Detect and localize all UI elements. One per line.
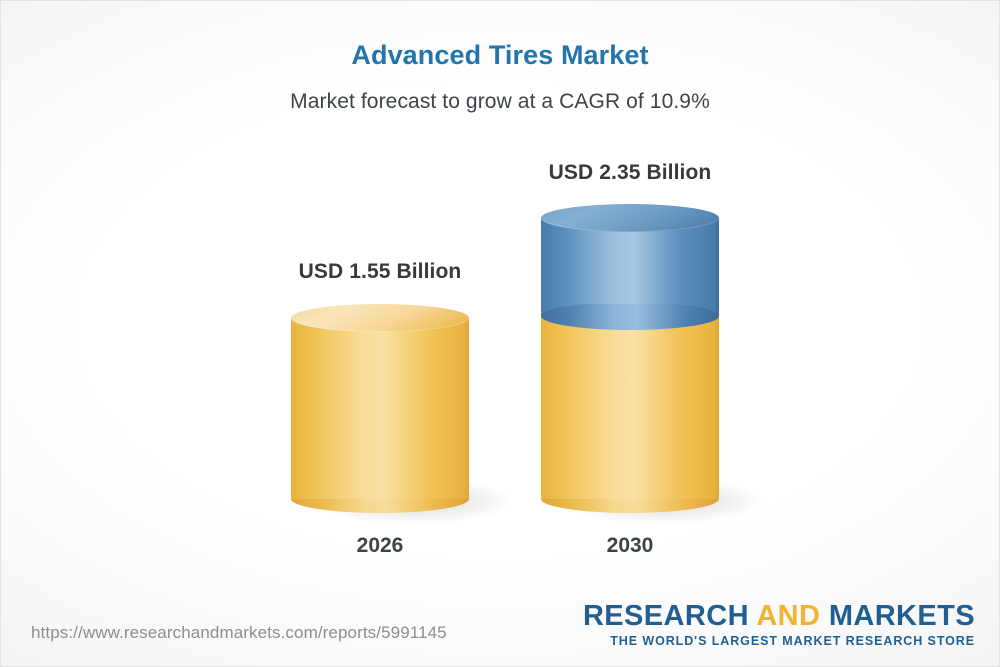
logo-research-text: RESEARCH (583, 600, 749, 632)
logo-and-text: AND (756, 600, 820, 632)
chart-plot-area: USD 1.55 Billion 2026 USD 2.35 Billion (1, 1, 1000, 667)
bar-segment-yellow-2030 (541, 316, 719, 499)
source-url[interactable]: https://www.researchandmarkets.com/repor… (31, 623, 447, 643)
bar-category-label-2026: 2026 (290, 534, 470, 558)
bar-value-label-2030: USD 2.35 Billion (530, 161, 730, 185)
bar-segment-divider-2030 (541, 302, 719, 330)
infographic-canvas: Advanced Tires Market Market forecast to… (0, 0, 1000, 667)
logo-tagline: THE WORLD'S LARGEST MARKET RESEARCH STOR… (583, 634, 975, 648)
bar-value-label-2026: USD 1.55 Billion (280, 260, 480, 284)
bar-cylinder-2026[interactable] (291, 304, 469, 513)
bar-segment-yellow-2026 (291, 318, 469, 499)
research-and-markets-logo[interactable]: RESEARCH AND MARKETS THE WORLD'S LARGEST… (583, 601, 975, 648)
logo-markets-text: MARKETS (829, 600, 975, 632)
bar-top-cap-2030 (541, 204, 719, 232)
bar-category-label-2030: 2030 (540, 534, 720, 558)
bar-cylinder-2030[interactable] (541, 204, 719, 513)
bar-top-cap-2026 (291, 304, 469, 332)
logo-wordmark: RESEARCH AND MARKETS (583, 601, 975, 631)
